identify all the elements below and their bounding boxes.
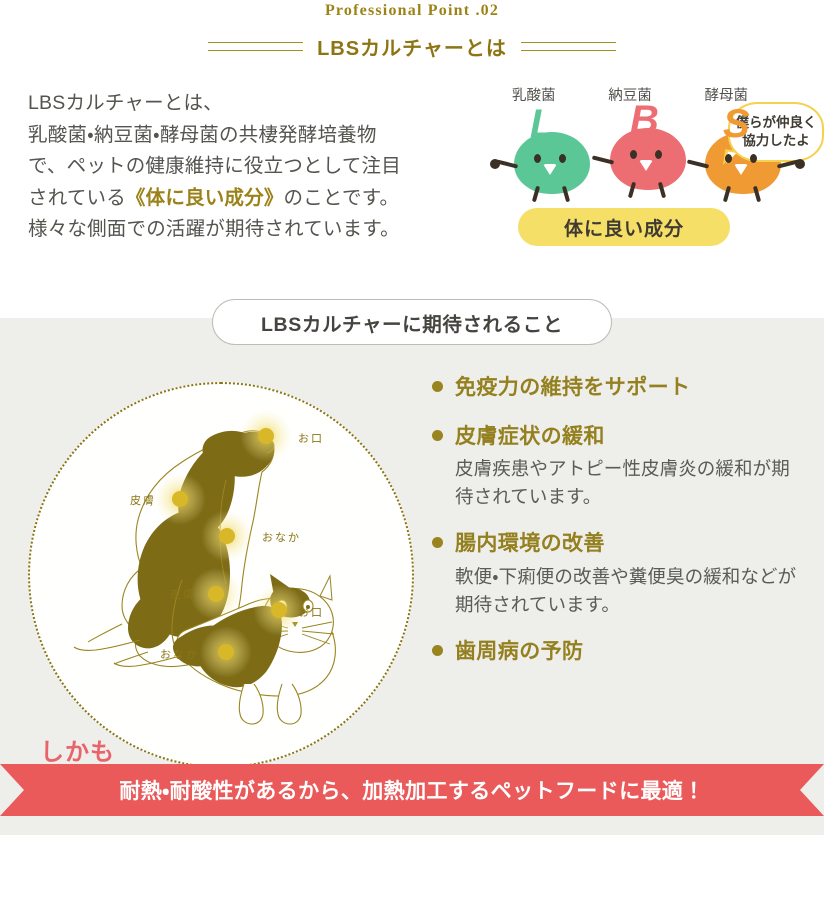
benefit-title: 免疫力の維持をサポート <box>455 372 690 404</box>
hotspot-label-mouth-cat: お口 <box>298 604 324 620</box>
mouth-icon <box>639 160 653 171</box>
bullet-dot-icon <box>432 381 443 392</box>
intro-line-4-before: されている <box>28 187 126 209</box>
benefit-description: 皮膚疾患やアトピー性皮膚炎の緩和が期待されています。 <box>455 455 804 511</box>
mascot-lactic-bacteria: L <box>514 118 590 190</box>
highlight-banner-wrap: 耐熱・耐酸性があるから、加熱加工するペットフードに最適！ <box>0 764 824 816</box>
mascot-letter-l: L <box>530 104 554 144</box>
benefit-heading-row: 免疫力の維持をサポート <box>432 372 804 404</box>
intro-paragraph: LBSカルチャーとは、 乳酸菌・納豆菌・酵母菌の共棲発酵培養物 で、ペットの健康… <box>28 88 480 246</box>
eye-icon <box>750 154 757 163</box>
benefit-title: 皮膚症状の緩和 <box>455 421 605 453</box>
benefit-title: 腸内環境の改善 <box>455 528 605 560</box>
benefit-item: 歯周病の予防 <box>432 636 804 668</box>
mouth-icon <box>543 164 557 175</box>
mascot-natto-bacteria: B <box>610 114 686 186</box>
title-rule-left <box>208 42 303 51</box>
hotspot-label-mouth-dog: お口 <box>298 430 324 446</box>
benefit-heading-row: 皮膚症状の緩和 <box>432 421 804 453</box>
speech-line-2: 協力したよ <box>742 132 810 150</box>
hotspot-label-tummy-cat: おなか <box>160 646 199 662</box>
benefit-title: 歯周病の予防 <box>455 636 583 668</box>
hand-icon <box>490 159 500 169</box>
pet-diagram-circle: お口 皮膚 おなか 皮膚 お口 おなか <box>28 382 414 768</box>
eye-icon <box>559 154 566 163</box>
pet-illustration <box>30 384 416 770</box>
eye-icon <box>725 154 732 163</box>
benefit-item: 皮膚症状の緩和 皮膚疾患やアトピー性皮膚炎の緩和が期待されています。 <box>432 421 804 512</box>
benefit-item: 腸内環境の改善 軟便・下痢便の改善や糞便臭の緩和などが期待されています。 <box>432 528 804 619</box>
intro-line-5: 様々な側面での活躍が期待されています。 <box>28 214 480 246</box>
page-title: LBSカルチャーとは <box>317 32 507 61</box>
highlight-banner-text: 耐熱・耐酸性があるから、加熱加工するペットフードに最適！ <box>119 775 704 805</box>
highlight-banner: 耐熱・耐酸性があるから、加熱加工するペットフードに最適！ <box>0 764 824 816</box>
intro-line-4-after: のことです。 <box>284 187 400 209</box>
page-header: Professional Point .02 LBSカルチャーとは <box>0 0 824 70</box>
benefit-heading-row: 歯周病の予防 <box>432 636 804 668</box>
intro-line-2: 乳酸菌・納豆菌・酵母菌の共棲発酵培養物 <box>28 120 480 152</box>
eye-icon <box>534 154 541 163</box>
eyebrow-label: Professional Point .02 <box>0 2 824 20</box>
intro-line-1: LBSカルチャーとは、 <box>28 88 480 120</box>
bullet-dot-icon <box>432 537 443 548</box>
intro-line-3: で、ペットの健康維持に役立つとして注目 <box>28 151 480 183</box>
eye-icon <box>655 150 662 159</box>
highlight-good-ingredient: 《体に良い成分》 <box>126 187 284 209</box>
section-heading-pill: LBSカルチャーに期待されること <box>212 299 612 345</box>
bullet-dot-icon <box>432 645 443 656</box>
mascot-letter-b: B <box>630 100 659 140</box>
benefit-description: 軟便・下痢便の改善や糞便臭の緩和などが期待されています。 <box>455 563 804 619</box>
hotspot-label-skin-dog: 皮膚 <box>130 492 156 508</box>
mascot-illustration: 乳酸菌 納豆菌 酵母菌 L B S 僕らが仲良く <box>500 84 824 264</box>
title-rule-right <box>521 42 616 51</box>
intro-line-4: されている《体に良い成分》のことです。 <box>28 183 480 215</box>
hotspot-label-tummy-dog: おなか <box>262 529 301 545</box>
benefit-heading-row: 腸内環境の改善 <box>432 528 804 560</box>
benefit-item: 免疫力の維持をサポート <box>432 372 804 404</box>
hand-icon <box>795 159 805 169</box>
benefits-list: 免疫力の維持をサポート 皮膚症状の緩和 皮膚疾患やアトピー性皮膚炎の緩和が期待さ… <box>432 372 804 684</box>
mascot-letter-s: S <box>723 104 750 144</box>
shikamo-label: しかも <box>40 732 115 767</box>
mouth-icon <box>734 164 748 175</box>
hotspot-label-skin-cat: 皮膚 <box>170 586 196 602</box>
bullet-dot-icon <box>432 430 443 441</box>
eye-icon <box>630 150 637 159</box>
title-row: LBSカルチャーとは <box>0 32 824 61</box>
good-ingredient-pill: 体に良い成分 <box>518 208 730 246</box>
